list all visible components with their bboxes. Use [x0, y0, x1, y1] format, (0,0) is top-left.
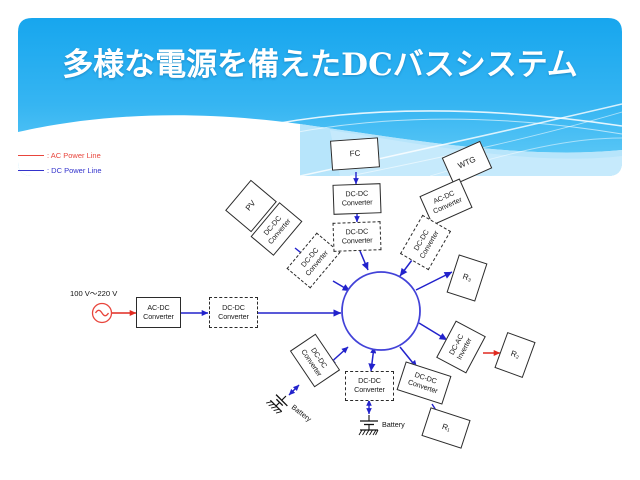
link-bus-to-inverter [419, 323, 447, 340]
node-label: PV [244, 199, 257, 213]
node-fc[interactable]: FC [330, 137, 380, 170]
dc-bus-diagram: Battery Battery 100 V〜220 V [0, 0, 640, 480]
battery-left-label: Battery [290, 402, 314, 423]
node-label: R₂ [509, 349, 520, 360]
grid-voltage-label: 100 V〜220 V [70, 289, 118, 298]
node-grid-dcdc[interactable]: DC-DC Converter [209, 297, 258, 328]
node-label: R₁ [441, 423, 452, 434]
node-label: DC-AC Inverter [448, 333, 474, 362]
link-batdcdc1-to-battery [289, 385, 299, 395]
link-bus-to-batdcdc2 [371, 347, 374, 371]
node-grid-acdc[interactable]: AC-DC Converter [136, 297, 181, 328]
node-label: DC-DC Converter [407, 370, 441, 396]
node-label: DC-DC Converter [341, 190, 372, 208]
battery-center-label: Battery [382, 420, 405, 429]
battery-left-symbol-icon [266, 390, 291, 415]
node-label: DC-DC Converter [354, 377, 385, 394]
ac-source-symbol-icon [93, 304, 112, 323]
node-fc-dcdc2[interactable]: DC-DC Converter [333, 221, 382, 252]
node-label: DC-DC Converter [410, 225, 440, 260]
node-fc-dcdc[interactable]: DC-DC Converter [332, 183, 381, 215]
dc-bus-node[interactable] [342, 272, 420, 350]
link-wtg-to-bus [400, 260, 412, 276]
node-label: DC-DC Converter [218, 304, 249, 321]
slide-canvas: 多様な電源を備えたDCバスシステム : AC Power Line : DC P… [0, 0, 640, 480]
node-battery-center-dcdc[interactable]: DC-DC Converter [345, 371, 394, 401]
battery-center-symbol-icon [359, 415, 378, 435]
node-label: FC [349, 149, 360, 158]
node-label: WTG [457, 155, 477, 170]
link-fc-to-bus [360, 251, 368, 270]
node-label: AC-DC Converter [143, 304, 174, 321]
node-label: AC-DC Converter [428, 188, 463, 216]
link-bus-to-r3 [416, 272, 452, 290]
node-label: DC-DC Converter [299, 343, 330, 378]
node-label: DC-DC Converter [341, 227, 372, 245]
node-label: R₃ [461, 273, 472, 284]
